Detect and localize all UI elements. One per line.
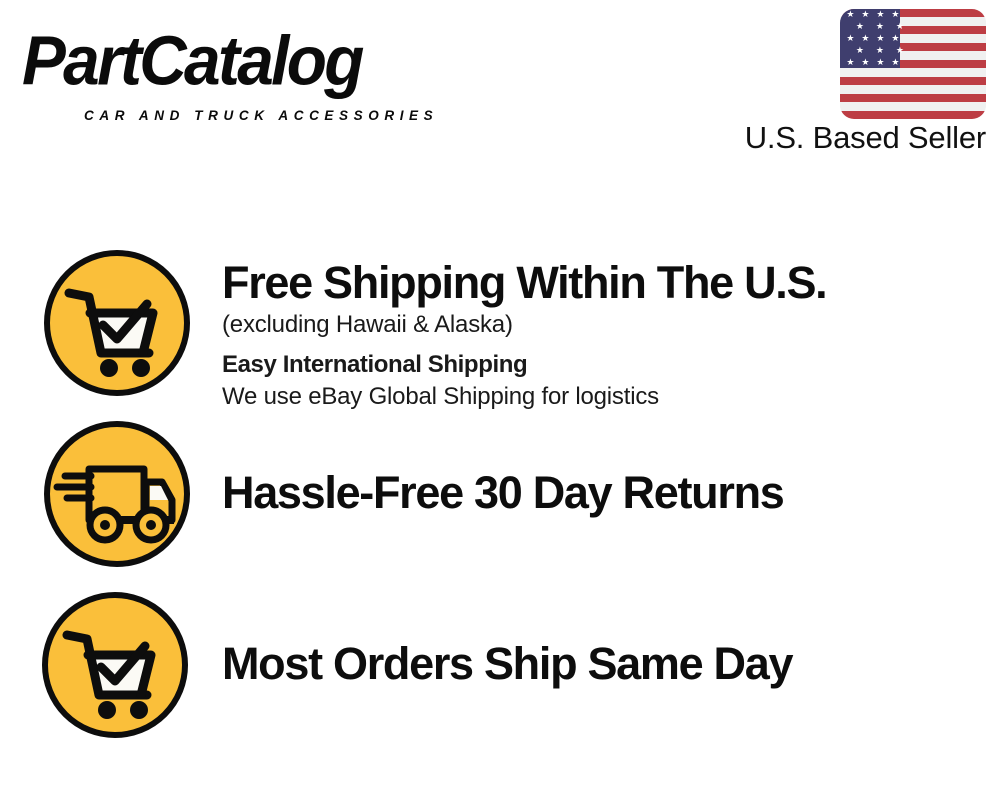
- flag-canton: ★★★★★★★★★★★★★★★★★★: [840, 9, 900, 68]
- feature-text-block: Free Shipping Within The U.S. (excluding…: [222, 257, 982, 413]
- flag-star-icon: ★: [843, 10, 858, 19]
- flag-star-icon: ★: [888, 34, 903, 43]
- flag-star-icon: ★: [870, 46, 890, 55]
- flag-star-icon: ★: [858, 34, 873, 43]
- flag-star-icon: ★: [850, 46, 870, 55]
- united-states-flag-icon: ★★★★★★★★★★★★★★★★★★: [840, 9, 986, 119]
- brand-wordmark-text: PartCatalog: [22, 22, 362, 103]
- flag-star-icon: ★: [873, 34, 888, 43]
- flag-star-icon: ★: [858, 58, 873, 67]
- flag-stripe: [840, 102, 986, 110]
- shopping-cart-check-icon: [41, 591, 189, 739]
- feature-note-bold: Easy International Shipping: [222, 349, 982, 381]
- flag-star-icon: ★: [873, 58, 888, 67]
- feature-title: Free Shipping Within The U.S.: [222, 257, 982, 309]
- feature-note: We use eBay Global Shipping for logistic…: [222, 381, 982, 413]
- shopping-cart-check-icon: [43, 249, 191, 397]
- brand-logo[interactable]: PartCatalog CAR AND TRUCK ACCESSORIES: [22, 22, 492, 118]
- feature-title: Hassle-Free 30 Day Returns: [222, 467, 982, 519]
- flag-star-icon: ★: [888, 58, 903, 67]
- us-based-seller-label: U.S. Based Seller: [726, 119, 986, 157]
- brand-tagline-text: CAR AND TRUCK ACCESSORIES: [84, 108, 438, 123]
- flag-stripe: [840, 77, 986, 85]
- flag-stripe: [840, 94, 986, 102]
- flag-star-icon: ★: [888, 10, 903, 19]
- feature-subtitle: (excluding Hawaii & Alaska): [222, 309, 982, 341]
- flag-star-row: ★★★★: [840, 56, 906, 68]
- flag-star-row: ★★★: [840, 45, 920, 57]
- flag-star-icon: ★: [890, 22, 910, 31]
- flag-star-icon: ★: [858, 10, 873, 19]
- feature-text-block: Hassle-Free 30 Day Returns: [222, 467, 982, 519]
- flag-star-row: ★★★★: [840, 33, 906, 45]
- page-header: PartCatalog CAR AND TRUCK ACCESSORIES ★★…: [0, 0, 1000, 170]
- flag-star-icon: ★: [843, 58, 858, 67]
- flag-star-icon: ★: [850, 22, 870, 31]
- flag-stripe: [840, 68, 986, 76]
- flag-star-row: ★★★: [840, 21, 920, 33]
- flag-star-icon: ★: [870, 22, 890, 31]
- flag-star-icon: ★: [873, 10, 888, 19]
- spacer: [222, 341, 982, 349]
- feature-text-block: Most Orders Ship Same Day: [222, 638, 982, 690]
- feature-title: Most Orders Ship Same Day: [222, 638, 982, 690]
- delivery-truck-icon: [43, 420, 191, 568]
- flag-star-icon: ★: [843, 34, 858, 43]
- flag-star-icon: ★: [890, 46, 910, 55]
- flag-stripe: [840, 111, 986, 119]
- flag-star-row: ★★★★: [840, 9, 906, 21]
- flag-stripe: [840, 85, 986, 93]
